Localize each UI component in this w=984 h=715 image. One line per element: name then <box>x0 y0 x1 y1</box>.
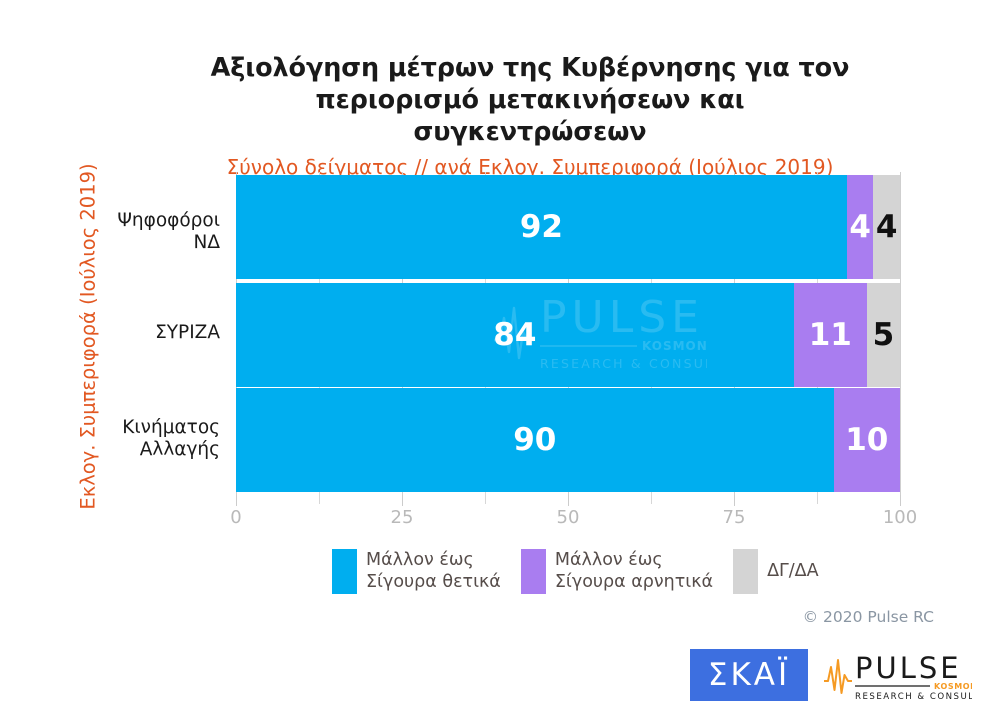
x-axis-tick <box>734 495 735 506</box>
bar-segment-negative[interactable]: 4 <box>847 175 874 279</box>
bar-value-label: 11 <box>809 320 852 351</box>
skai-logo: ΣΚΑΪ <box>690 649 808 701</box>
legend-label: Μάλλον έως Σίγουρα θετικά <box>366 550 501 594</box>
x-axis-tick <box>319 495 320 504</box>
x-axis-tick-label: 100 <box>883 507 917 528</box>
x-axis-tick <box>485 495 486 504</box>
bar-segment-dk[interactable]: 5 <box>867 283 900 387</box>
legend-item-positive[interactable]: Μάλλον έως Σίγουρα θετικά <box>332 549 501 594</box>
bar-row: 90 10 <box>236 388 900 492</box>
x-axis-tick-label: 50 <box>557 507 580 528</box>
legend-label: Μάλλον έως Σίγουρα αρνητικά <box>555 550 713 594</box>
bar-segment-dk[interactable]: 4 <box>873 175 900 279</box>
legend-swatch-negative-icon <box>521 549 546 594</box>
bar-segment-positive[interactable]: 90 <box>236 388 834 492</box>
title-block: Αξιολόγηση μέτρων της Κυβέρνησης για τον… <box>200 52 860 179</box>
bar-segment-positive[interactable]: 92 <box>236 175 847 279</box>
category-label-syriza: ΣΥΡΙΖΑ <box>30 322 220 344</box>
legend-label: ΔΓ/ΔΑ <box>767 561 819 583</box>
bar-value-label: 4 <box>849 212 871 243</box>
bar-segment-negative[interactable]: 10 <box>834 388 900 492</box>
bar-value-label: 90 <box>513 425 556 456</box>
chart-title: Αξιολόγηση μέτρων της Κυβέρνησης για τον… <box>200 52 860 148</box>
bar-row: 84 11 5 <box>236 283 900 387</box>
bar-value-label: 84 <box>493 320 536 351</box>
category-axis-labels: Ψηφοφόροι ΝΔ ΣΥΡΙΖΑ Κινήματος Αλλαγής <box>20 172 220 495</box>
legend: Μάλλον έως Σίγουρα θετικά Μάλλον έως Σίγ… <box>332 549 839 594</box>
x-axis-tick <box>236 495 237 506</box>
bar-value-label: 4 <box>876 212 898 243</box>
category-label-line2: Αλλαγής <box>30 439 220 461</box>
bar-value-label: 92 <box>520 212 563 243</box>
x-axis-tick <box>402 495 403 506</box>
category-label-line1: Ψηφοφόροι <box>30 210 220 232</box>
x-axis-tick-label: 25 <box>391 507 414 528</box>
category-label-nd: Ψηφοφόροι ΝΔ <box>30 210 220 254</box>
bar-row: 92 4 4 <box>236 175 900 279</box>
x-axis: 0255075100 <box>236 495 900 535</box>
copyright-text: © 2020 Pulse RC <box>803 608 934 626</box>
bar-value-label: 10 <box>845 425 888 456</box>
svg-text:RESEARCH & CONSULTING: RESEARCH & CONSULTING <box>855 692 972 702</box>
x-axis-tick <box>651 495 652 504</box>
category-label-line2: ΝΔ <box>30 232 220 254</box>
x-axis-tick <box>900 495 901 506</box>
category-label-line1: Κινήματος <box>30 417 220 439</box>
category-label-kinal: Κινήματος Αλλαγής <box>30 417 220 461</box>
svg-text:PULSE: PULSE <box>855 651 962 685</box>
x-axis-tick-label: 75 <box>723 507 746 528</box>
bar-value-label: 5 <box>873 320 895 351</box>
legend-item-dk[interactable]: ΔΓ/ΔΑ <box>733 549 819 594</box>
x-axis-tick-label: 0 <box>230 507 241 528</box>
legend-item-negative[interactable]: Μάλλον έως Σίγουρα αρνητικά <box>521 549 713 594</box>
svg-text:KOSMON: KOSMON <box>934 682 972 691</box>
x-axis-tick <box>568 495 569 506</box>
bar-segment-positive[interactable]: 84 <box>236 283 794 387</box>
category-label-line1: ΣΥΡΙΖΑ <box>30 322 220 344</box>
legend-swatch-dk-icon <box>733 549 758 594</box>
bar-segment-negative[interactable]: 11 <box>794 283 867 387</box>
x-axis-tick <box>817 495 818 504</box>
legend-swatch-positive-icon <box>332 549 357 594</box>
plot-area: 92 4 4 84 11 5 90 10 <box>236 172 900 495</box>
skai-logo-text: ΣΚΑΪ <box>708 660 790 691</box>
pulse-logo: PULSE KOSMON RESEARCH & CONSULTING <box>822 648 972 702</box>
